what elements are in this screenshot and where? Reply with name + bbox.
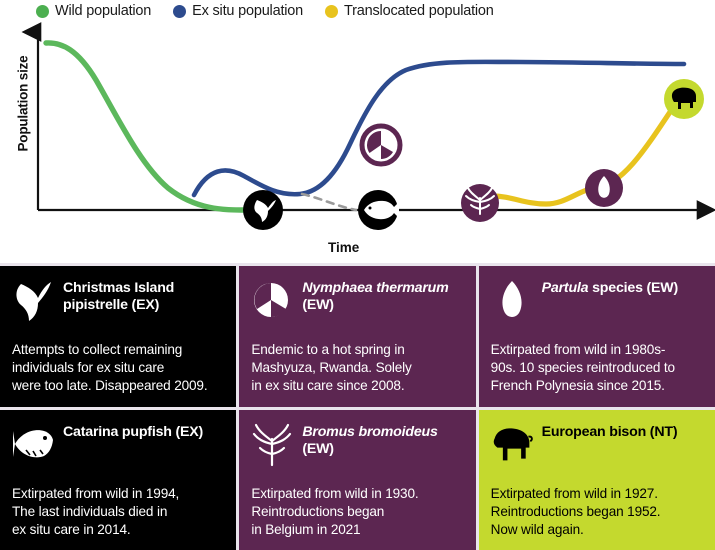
legend-item-wild: Wild population — [36, 3, 151, 19]
chart-marker-christmas-island-pipistrelle[interactable] — [243, 190, 283, 230]
card-header: Catarina pupfish (EX) — [12, 421, 223, 473]
waterlily-icon — [251, 277, 293, 323]
card-title: Bromus bromoideus (EW) — [302, 421, 462, 459]
series-ex-situ-failed — [302, 194, 356, 210]
card-title-scientific: Nymphaea thermarum — [302, 280, 448, 296]
fish-icon — [12, 421, 54, 467]
card-title: Nymphaea thermarum (EW) — [302, 277, 462, 315]
card-title-main: European bison (NT) — [542, 424, 678, 440]
blue-dot-icon — [173, 5, 186, 18]
card-title-main: (EW) — [302, 297, 334, 313]
grass-icon — [251, 421, 293, 467]
chart-marker-bromus-bromoideus[interactable] — [461, 184, 499, 222]
card-header: Nymphaea thermarum (EW) — [251, 277, 462, 329]
series-translocated-population — [492, 100, 678, 204]
species-card-catarina-pupfish[interactable]: Catarina pupfish (EX) Extirpated from wi… — [0, 410, 236, 550]
species-card-partula-species[interactable]: Partula species (EW) Extirpated from wil… — [479, 266, 715, 407]
card-body: Extirpated from wild in 1927. Reintroduc… — [491, 485, 702, 539]
card-body: Extirpated from wild in 1930. Reintroduc… — [251, 485, 462, 539]
species-card-grid: Christmas Island pipistrelle (EX) Attemp… — [0, 263, 715, 550]
legend-label-exsitu: Ex situ population — [192, 3, 303, 19]
chart-marker-european-bison[interactable] — [664, 79, 704, 119]
card-header: Bromus bromoideus (EW) — [251, 421, 462, 473]
card-body: Extirpated from wild in 1980s- 90s. 10 s… — [491, 341, 702, 395]
card-title-main: (EW) — [302, 441, 334, 457]
snail-shell-icon — [491, 277, 533, 323]
species-card-nymphaea-thermarum[interactable]: Nymphaea thermarum (EW) Endemic to a hot… — [239, 266, 475, 407]
chart-canvas — [0, 18, 715, 263]
legend-item-translocated: Translocated population — [325, 3, 494, 19]
card-body: Endemic to a hot spring in Mashyuza, Rwa… — [251, 341, 462, 395]
card-title: Partula species (EW) — [542, 277, 678, 297]
card-header: Partula species (EW) — [491, 277, 702, 329]
bison-icon — [491, 421, 533, 467]
card-header: European bison (NT) — [491, 421, 702, 473]
card-title-main: species (EW) — [592, 280, 678, 296]
legend-label-wild: Wild population — [55, 3, 151, 19]
green-dot-icon — [36, 5, 49, 18]
chart-marker-catarina-pupfish[interactable] — [358, 190, 399, 230]
x-axis-label: Time — [328, 240, 359, 255]
card-title-scientific: Bromus bromoideus — [302, 424, 437, 440]
species-card-christmas-island-pipistrelle[interactable]: Christmas Island pipistrelle (EX) Attemp… — [0, 266, 236, 407]
legend-item-exsitu: Ex situ population — [173, 3, 303, 19]
species-card-bromus-bromoideus[interactable]: Bromus bromoideus (EW) Extirpated from w… — [239, 410, 475, 550]
card-title: Catarina pupfish (EX) — [63, 421, 203, 441]
bat-icon — [12, 277, 54, 323]
card-title-main: Catarina pupfish (EX) — [63, 424, 203, 440]
card-title-main: Christmas Island pipistrelle (EX) — [63, 280, 174, 313]
card-title: European bison (NT) — [542, 421, 678, 441]
card-body: Attempts to collect remaining individual… — [12, 341, 223, 395]
yellow-dot-icon — [325, 5, 338, 18]
card-body: Extirpated from wild in 1994, The last i… — [12, 485, 223, 539]
legend-label-translocated: Translocated population — [344, 3, 494, 19]
species-card-european-bison[interactable]: European bison (NT) Extirpated from wild… — [479, 410, 715, 550]
card-title: Christmas Island pipistrelle (EX) — [63, 277, 223, 315]
chart-marker-nymphaea-thermarum[interactable] — [362, 126, 400, 164]
card-title-scientific: Partula — [542, 280, 589, 296]
population-chart: Population size Time — [0, 18, 715, 263]
card-header: Christmas Island pipistrelle (EX) — [12, 277, 223, 329]
y-axis-label: Population size — [16, 44, 31, 164]
chart-marker-partula-species[interactable] — [585, 169, 623, 207]
series-wild-population — [46, 43, 246, 210]
